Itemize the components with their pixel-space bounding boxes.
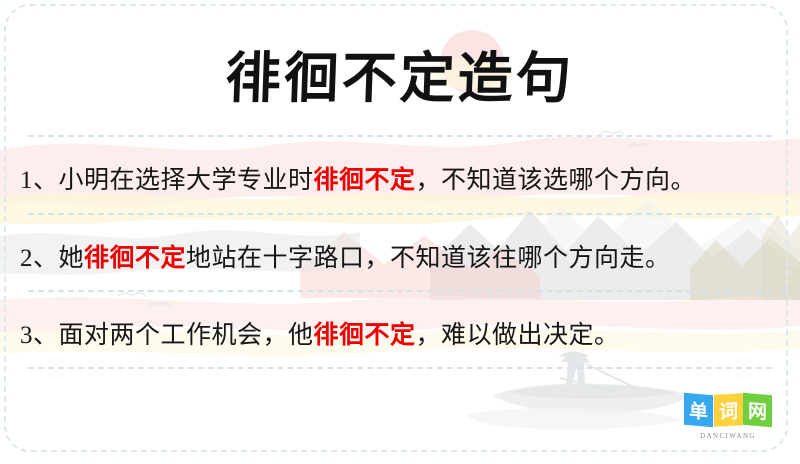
separator-line-3 xyxy=(28,290,772,292)
sentence-3-highlight: 徘徊不定 xyxy=(314,315,416,351)
sentence-1-after: ，不知道该选哪个方向。 xyxy=(416,160,697,196)
example-sentence-1: 1、 小明在选择大学专业时 徘徊不定 ，不知道该选哪个方向。 xyxy=(20,150,784,206)
boat-illustration xyxy=(466,352,690,430)
slide-page: 徘徊不定造句 1、 小明在选择大学专业时 徘徊不定 ，不知道该选哪个方向。 2、… xyxy=(0,0,800,464)
title-area: 徘徊不定造句 xyxy=(0,30,800,116)
logo-tiles: 单 词 网 xyxy=(682,394,774,428)
example-sentence-2: 2、 她 徘徊不定 地站在十字路口，不知道该往哪个方向走。 xyxy=(20,228,784,284)
sentence-2-index: 2、 xyxy=(20,238,59,274)
sentence-3-after: ，难以做出决定。 xyxy=(416,315,620,351)
logo-tile-ci: 词 xyxy=(714,393,743,427)
page-title: 徘徊不定造句 xyxy=(225,33,576,113)
separator-line-4 xyxy=(28,367,772,369)
site-logo[interactable]: 单 词 网 DANCIWANG xyxy=(682,394,774,444)
sentence-1-index: 1、 xyxy=(20,160,59,196)
sentence-2-before: 她 xyxy=(59,238,85,274)
logo-subtitle: DANCIWANG xyxy=(682,432,774,440)
sentence-3-index: 3、 xyxy=(20,315,59,351)
logo-tile-wang: 网 xyxy=(743,393,772,428)
sentence-1-highlight: 徘徊不定 xyxy=(314,160,416,196)
example-sentence-3: 3、 面对两个工作机会，他 徘徊不定 ，难以做出决定。 xyxy=(20,305,784,361)
separator-line-1 xyxy=(28,135,772,137)
logo-tile-dan: 单 xyxy=(684,393,713,428)
boat-reflection xyxy=(466,408,682,429)
separator-line-2 xyxy=(28,213,772,215)
sentence-3-before: 面对两个工作机会，他 xyxy=(59,315,314,351)
sentence-2-highlight: 徘徊不定 xyxy=(84,238,186,274)
sentence-1-before: 小明在选择大学专业时 xyxy=(59,160,314,196)
sentence-2-after: 地站在十字路口，不知道该往哪个方向走。 xyxy=(186,238,671,274)
